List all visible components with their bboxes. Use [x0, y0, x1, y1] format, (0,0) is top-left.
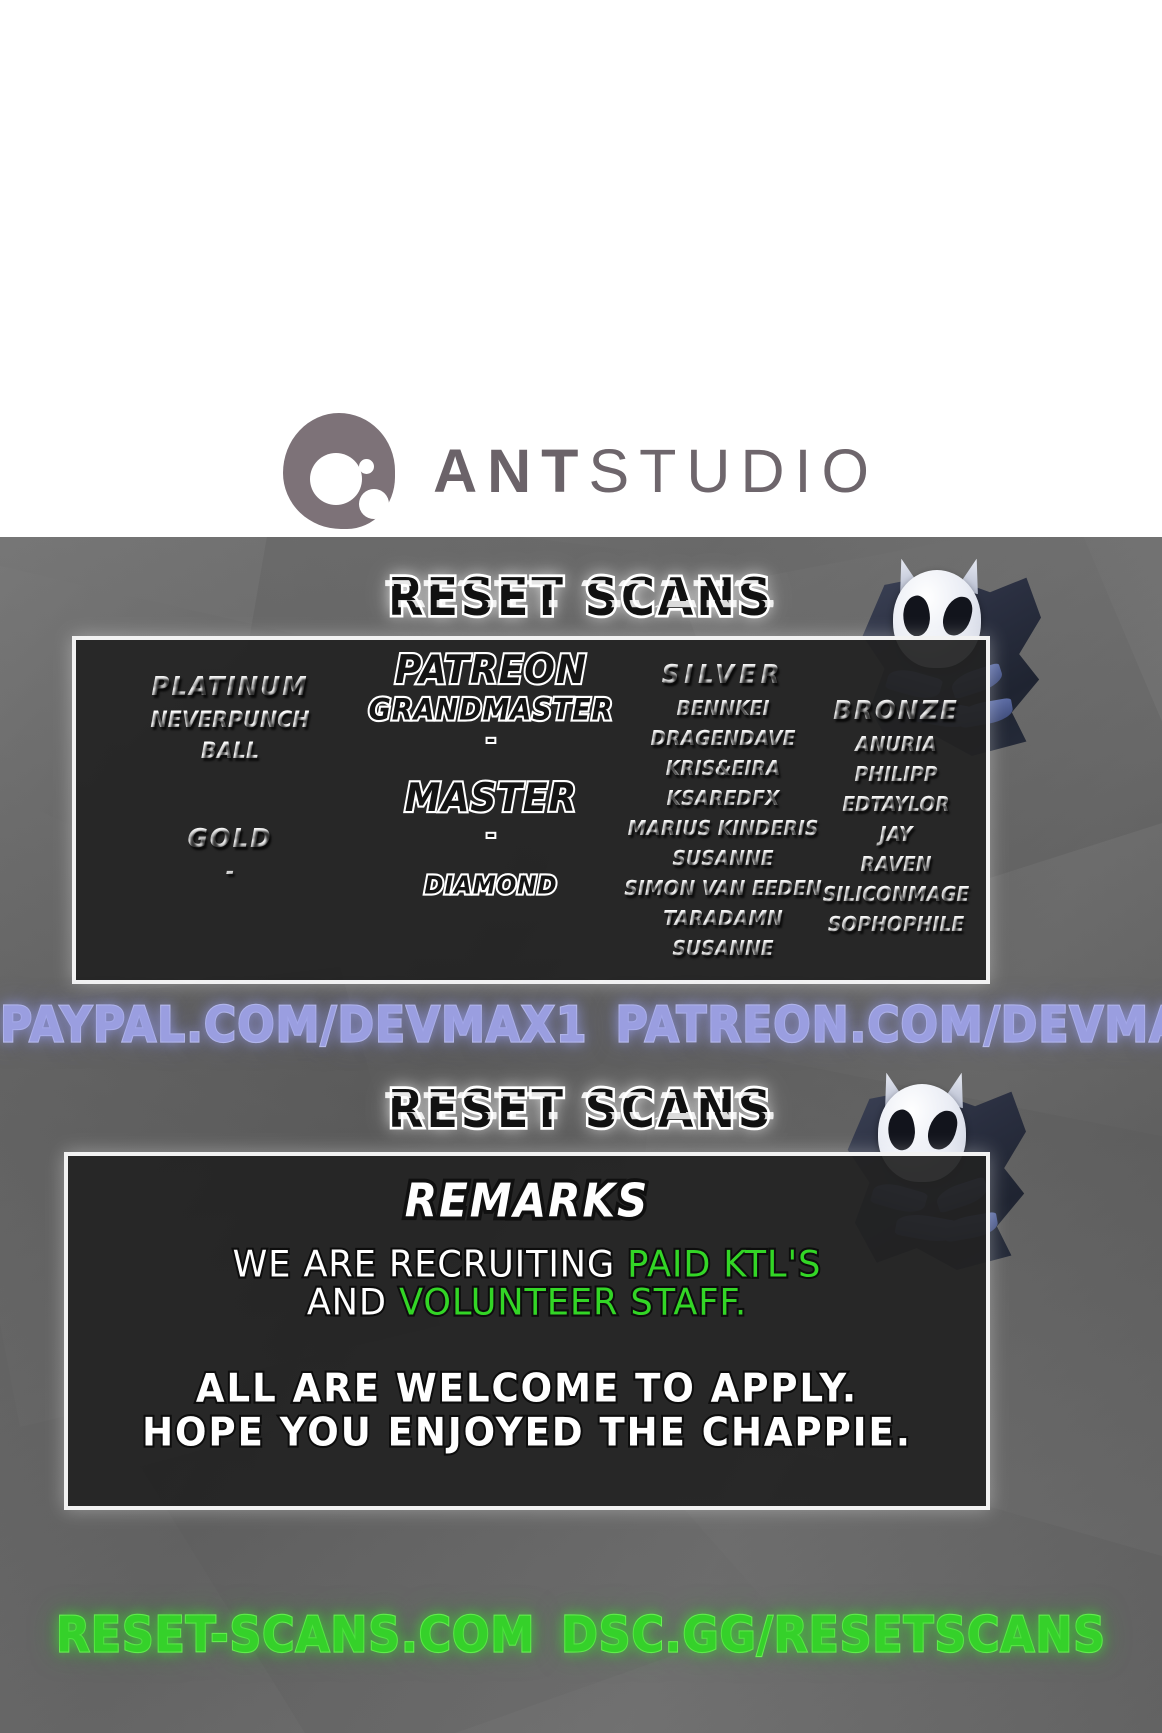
- supporter-name: EDTAYLOR: [783, 792, 1009, 816]
- recruiting-line-1: WE ARE RECRUITING PAID KTL'S: [68, 1246, 986, 1285]
- brand-wordmark: ANTSTUDIO: [433, 436, 879, 506]
- tier-column-patreon: PATREON GRANDMASTER - MASTER - DIAMOND: [366, 650, 616, 899]
- patreon-heading: PATREON: [366, 648, 616, 692]
- tier-column-platinum: PLATINUM NEVERPUNCH BALL GOLD -: [100, 672, 360, 885]
- footer-links: RESET-SCANS.COMDSC.GG/RESETSCANS: [0, 1610, 1162, 1661]
- donation-links: PAYPAL.COM/DEVMAX1PATREON.COM/DEVMAX1: [0, 1000, 1162, 1051]
- remarks-thanks-line: HOPE YOU ENJOYED THE CHAPPIE.: [68, 1410, 986, 1457]
- tier-column-bronze: BRONZE ANURIA PHILIPP EDTAYLOR JAY RAVEN…: [776, 696, 1016, 936]
- supporter-name: ANURIA: [783, 732, 1009, 756]
- recruiting-text-highlight-2: VOLUNTEER STAFF.: [399, 1282, 747, 1324]
- tier-heading-master: MASTER: [366, 776, 616, 820]
- supporter-name: BALL: [108, 739, 352, 764]
- supporter-name: PHILIPP: [783, 762, 1009, 786]
- tier-heading-gold: GOLD: [107, 824, 354, 854]
- recruiting-text-plain-2: AND: [307, 1282, 399, 1324]
- supporter-name: -: [108, 860, 352, 885]
- recruiting-line-2: AND VOLUNTEER STAFF.: [68, 1284, 986, 1323]
- recruiting-text-highlight-1: PAID KTL'S: [627, 1244, 821, 1286]
- tier-value-master: -: [366, 825, 616, 847]
- antstudio-logo-mark-icon: [283, 413, 399, 529]
- brand-logo: ANTSTUDIO: [283, 413, 879, 529]
- brand-name-light: STUDIO: [588, 437, 878, 505]
- discord-link[interactable]: DSC.GG/RESETSCANS: [561, 1607, 1106, 1664]
- recruiting-text-plain-1: WE ARE RECRUITING: [233, 1244, 628, 1286]
- header-band: ANTSTUDIO: [0, 0, 1162, 537]
- supporter-name: SOPHOPHILE: [783, 912, 1009, 936]
- tier-heading-platinum: PLATINUM: [107, 672, 354, 702]
- remarks-section-title-text: RESET SCANS: [388, 1079, 774, 1139]
- supporter-name: SILICONMAGE: [783, 882, 1009, 906]
- tier-heading-bronze: BRONZE: [782, 696, 1010, 726]
- tier-heading-grandmaster: GRANDMASTER: [366, 694, 616, 727]
- brand-name-bold: ANT: [433, 437, 588, 505]
- supporter-name: RAVEN: [783, 852, 1009, 876]
- patreon-link[interactable]: PATREON.COM/DEVMAX1: [616, 997, 1162, 1054]
- remarks-apply-line: ALL ARE WELCOME TO APPLY.: [68, 1365, 986, 1412]
- supporter-name: NEVERPUNCH: [108, 708, 352, 733]
- remarks-panel: REMARKS WE ARE RECRUITING PAID KTL'S AND…: [64, 1152, 990, 1510]
- tier-heading-diamond: DIAMOND: [366, 872, 616, 900]
- remarks-heading: REMARKS: [405, 1174, 649, 1228]
- supporter-name: JAY: [783, 822, 1009, 846]
- tier-heading-silver: SILVER: [595, 660, 852, 690]
- tier-value-grandmaster: -: [366, 730, 616, 752]
- paypal-link[interactable]: PAYPAL.COM/DEVMAX1: [0, 997, 588, 1054]
- credits-title-text: RESET SCANS: [388, 567, 774, 627]
- website-link[interactable]: RESET-SCANS.COM: [56, 1607, 535, 1664]
- patreon-credits-panel: PLATINUM NEVERPUNCH BALL GOLD - PATREON …: [72, 636, 990, 984]
- supporter-name: SUSANNE: [596, 936, 850, 960]
